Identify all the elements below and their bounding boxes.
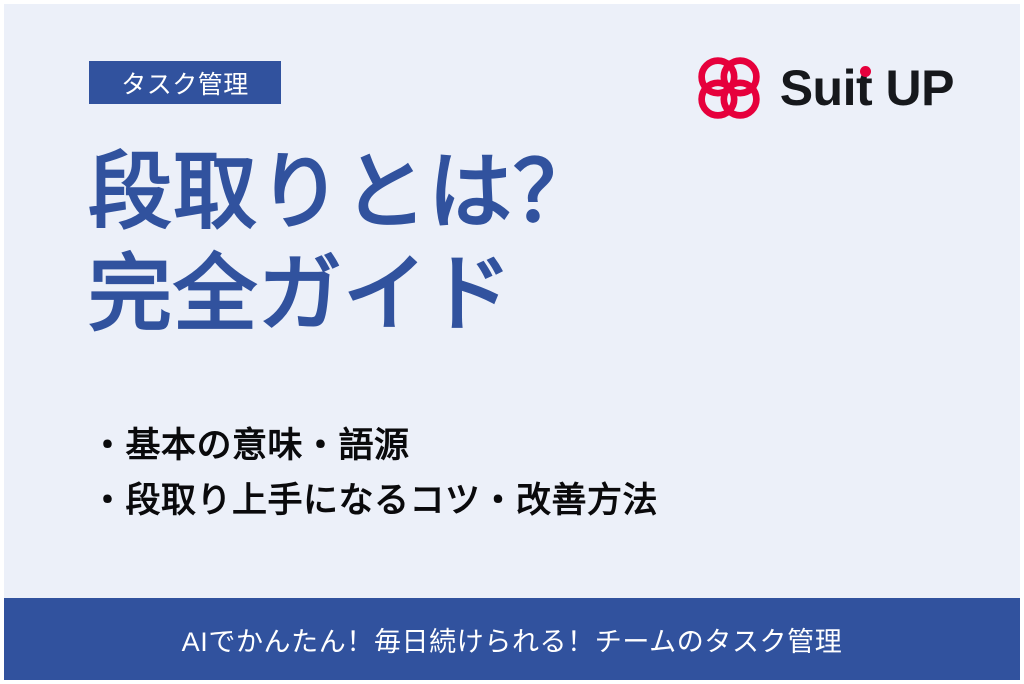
brand-lockup: Suit UP (692, 50, 954, 126)
category-badge: タスク管理 (89, 61, 281, 104)
footer-band: AIでかんたん！毎日続けられる！チームのタスク管理 (4, 598, 1020, 680)
footer-tagline: AIでかんたん！毎日続けられる！チームのタスク管理 (182, 620, 843, 659)
headline-line-1: 段取りとは？ (88, 141, 948, 243)
banner-header: タスク管理 Suit UP (4, 4, 1020, 124)
bullet-item-2: ・段取り上手になるコツ・改善方法 (90, 473, 950, 528)
headline: 段取りとは？ 完全ガイド (88, 141, 948, 346)
banner-surface: タスク管理 Suit UP 段取りとは？ 完全ガイド (4, 4, 1020, 680)
brand-i-dot-icon (860, 66, 871, 77)
promo-banner: タスク管理 Suit UP 段取りとは？ 完全ガイド (0, 0, 1024, 684)
headline-line-2: 完全ガイド (88, 243, 948, 345)
quatrefoil-logo-icon (692, 51, 766, 125)
bullet-item-1: ・基本の意味・語源 (90, 418, 950, 473)
brand-name: Suit UP (780, 63, 954, 113)
bullet-list: ・基本の意味・語源 ・段取り上手になるコツ・改善方法 (90, 418, 950, 529)
